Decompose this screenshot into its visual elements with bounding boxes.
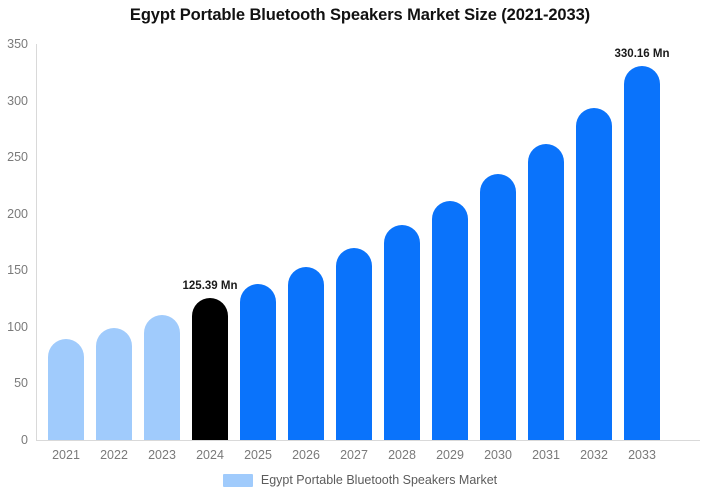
bar-series [36, 44, 700, 440]
bar-2024[interactable] [192, 298, 228, 440]
x-axis-tick-label: 2025 [234, 448, 282, 462]
bar-2030[interactable] [480, 174, 516, 440]
x-axis-tick-label: 2024 [186, 448, 234, 462]
x-axis-tick-label: 2022 [90, 448, 138, 462]
x-axis-tick-label: 2029 [426, 448, 474, 462]
bar-2021[interactable] [48, 339, 84, 440]
x-axis-line [36, 440, 700, 441]
chart-legend: Egypt Portable Bluetooth Speakers Market [0, 473, 720, 487]
y-axis-tick-label: 100 [7, 320, 28, 334]
bar-2023[interactable] [144, 315, 180, 440]
y-axis-tick-label: 300 [7, 94, 28, 108]
x-axis-tick-label: 2032 [570, 448, 618, 462]
bar-2029[interactable] [432, 201, 468, 440]
y-axis-tick-label: 250 [7, 150, 28, 164]
bar-2027[interactable] [336, 248, 372, 440]
x-axis-tick-label: 2028 [378, 448, 426, 462]
legend-swatch-icon [223, 474, 253, 487]
chart-title: Egypt Portable Bluetooth Speakers Market… [0, 6, 720, 25]
x-axis-tick-label: 2021 [42, 448, 90, 462]
x-axis-tick-label: 2027 [330, 448, 378, 462]
bar-2026[interactable] [288, 267, 324, 440]
data-label-2024: 125.39 Mn [183, 280, 238, 292]
bar-2033[interactable] [624, 66, 660, 440]
plot-area: 050100150200250300350 [36, 44, 700, 440]
legend-label: Egypt Portable Bluetooth Speakers Market [261, 473, 497, 487]
bar-2028[interactable] [384, 225, 420, 440]
bar-2032[interactable] [576, 108, 612, 440]
data-label-2033: 330.16 Mn [615, 48, 670, 60]
y-axis-tick-label: 0 [21, 433, 28, 447]
x-axis-tick-label: 2033 [618, 448, 666, 462]
chart-container: Egypt Portable Bluetooth Speakers Market… [0, 0, 720, 500]
y-axis-tick-label: 350 [7, 37, 28, 51]
bar-2022[interactable] [96, 328, 132, 440]
x-axis-tick-label: 2030 [474, 448, 522, 462]
bar-2025[interactable] [240, 284, 276, 440]
y-axis-tick-label: 50 [14, 376, 28, 390]
x-axis-tick-label: 2026 [282, 448, 330, 462]
y-axis-tick-label: 200 [7, 207, 28, 221]
bar-2031[interactable] [528, 144, 564, 440]
x-axis-tick-label: 2031 [522, 448, 570, 462]
x-axis-tick-label: 2023 [138, 448, 186, 462]
y-axis-tick-label: 150 [7, 263, 28, 277]
